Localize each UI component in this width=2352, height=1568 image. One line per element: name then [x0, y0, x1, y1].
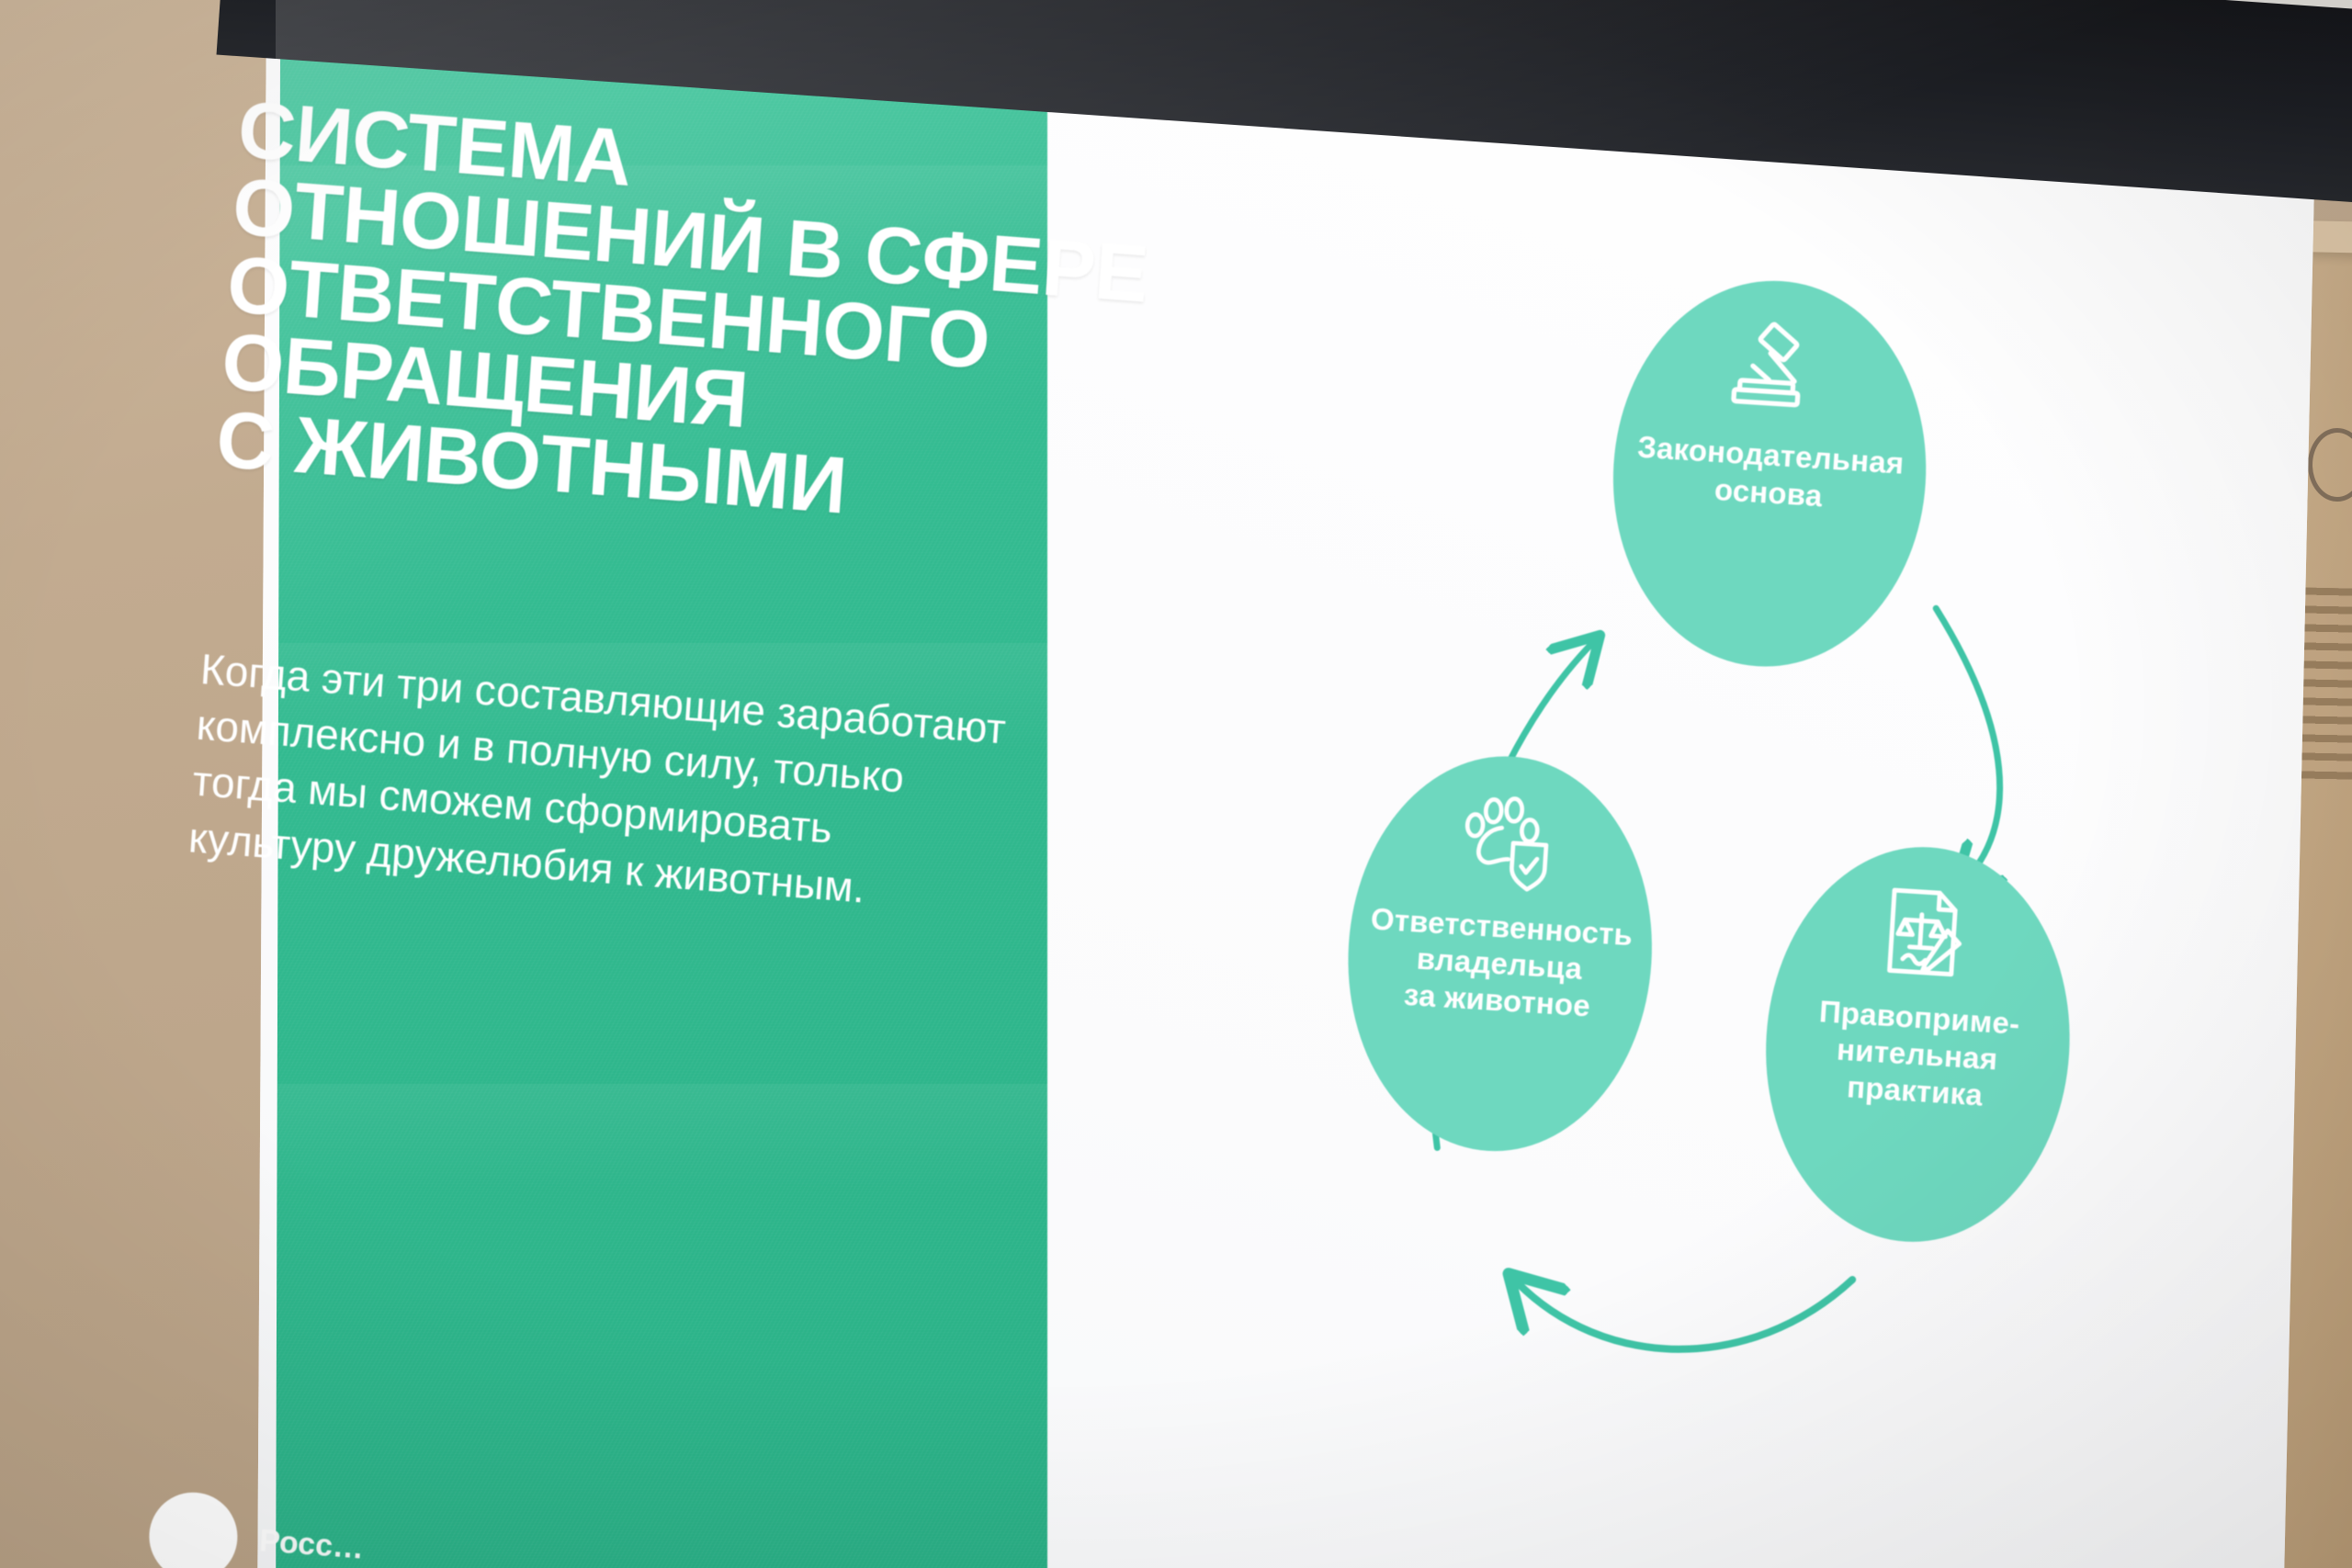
label-line: Ответственность: [1370, 901, 1634, 952]
slide-logo: Росс…: [146, 1489, 367, 1568]
logo-circle-icon: [146, 1489, 240, 1568]
slide-body-text: Когда эти три составляющие заработают ко…: [187, 641, 1109, 933]
node-legislative-basis[interactable]: Законодательная основа: [1601, 271, 1938, 676]
label-line: основа: [1713, 472, 1824, 513]
node-owner-responsibility-label: Ответственность владельца за животное: [1356, 900, 1643, 1029]
arrow-right-to-left-icon: [1512, 1258, 1852, 1360]
label-line: практика: [1846, 1070, 1984, 1112]
node-enforcement-practice-label: Правоприме- нительная практика: [1804, 992, 2030, 1116]
label-line: Законодательная: [1636, 430, 1905, 480]
node-enforcement-practice[interactable]: Правоприме- нительная практика: [1754, 838, 2081, 1251]
node-legislative-basis-label: Законодательная основа: [1625, 428, 1915, 520]
slide-left-column: СИСТЕМА ОТНОШЕНИЙ В СФЕРЕ ОТВЕТСТВЕННОГО…: [166, 57, 1292, 1568]
node-owner-responsibility[interactable]: Ответственность владельца за животное: [1337, 747, 1664, 1160]
logo-label: Росс…: [258, 1524, 365, 1568]
cycle-diagram: Законодательная основа Правоприме- ни: [1240, 110, 2323, 1568]
document-scales-pen-icon: [1870, 880, 1979, 989]
photo-of-projected-slide: СИСТЕМА ОТНОШЕНИЙ В СФЕРЕ ОТВЕТСТВЕННОГО…: [0, 0, 2352, 1568]
slide-title: СИСТЕМА ОТНОШЕНИЙ В СФЕРЕ ОТВЕТСТВЕННОГО…: [214, 91, 1158, 547]
arrow-top-to-right-icon: [1918, 608, 2011, 888]
gavel-icon: [1720, 315, 1833, 428]
paw-shield-icon: [1453, 790, 1562, 899]
